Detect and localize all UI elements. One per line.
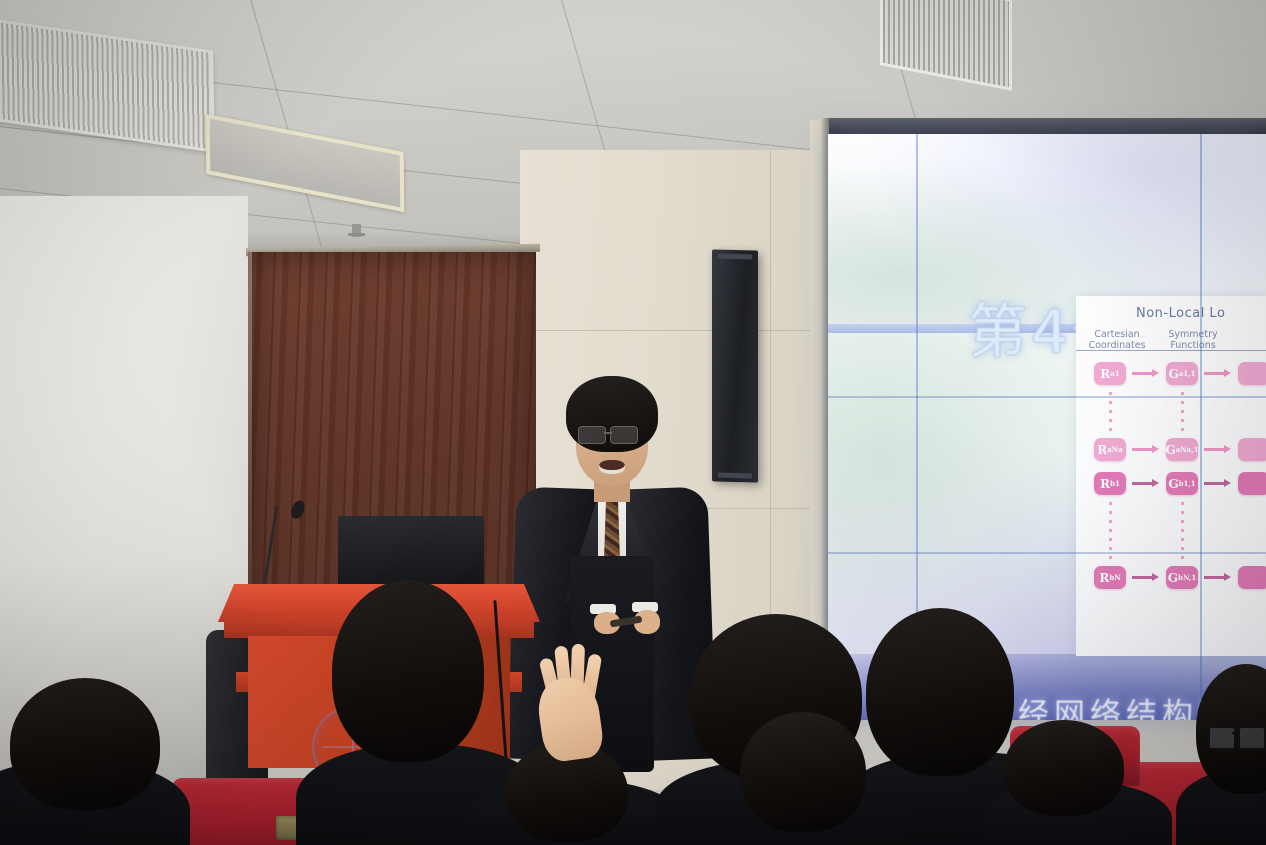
diagram-arrow — [1132, 448, 1154, 451]
diagram-column-header-cartesian: Cartesian Coordinates — [1080, 329, 1154, 351]
diagram-vertical-ellipsis — [1109, 392, 1112, 434]
node-symbol: G — [1168, 477, 1178, 491]
diagram-node-symmetry: Ga1,1 — [1166, 362, 1198, 385]
node-subscript: 1,1 — [1183, 369, 1195, 378]
diagram-vertical-ellipsis — [1181, 392, 1184, 434]
audience-eyeglasses — [1208, 726, 1266, 752]
diagram-node-coordinate: RaNa — [1094, 438, 1126, 461]
diagram-arrow — [1204, 482, 1226, 485]
node-symbol: R — [1099, 571, 1109, 585]
diagram-node-coordinate: RbN — [1094, 566, 1126, 589]
display-bezel-top — [820, 118, 1266, 135]
eyeglasses-lens-left — [578, 426, 606, 444]
audience-member-1 — [10, 678, 160, 810]
wall-mounted-column-speaker — [712, 249, 758, 482]
diagram-arrow — [1204, 372, 1226, 375]
node-subscript: 1,1 — [1183, 479, 1195, 488]
diagram-node-third-column — [1238, 438, 1266, 461]
diagram-arrow — [1132, 576, 1154, 579]
audience-member-8 — [740, 712, 866, 832]
diagram-node-symmetry: GaNa,1 — [1166, 438, 1198, 461]
diagram-node-symmetry: Gb1,1 — [1166, 472, 1198, 495]
diagram-node-symmetry: GbN,1 — [1166, 566, 1198, 589]
node-subscript: N — [1114, 573, 1120, 582]
eyeglasses-lens-right — [1238, 726, 1266, 750]
lecture-hall-photo: 第4代高 Non-Local Lo Cartesian Coordinates … — [0, 0, 1266, 845]
diagram-arrow — [1132, 482, 1154, 485]
node-subscript: N,1 — [1183, 573, 1196, 582]
diagram-column-header-symmetry: Symmetry Functions — [1156, 329, 1230, 351]
diagram-rule — [1076, 350, 1266, 351]
diagram-arrow — [1204, 448, 1226, 451]
led-panel-seam — [828, 552, 1266, 554]
node-symbol: G — [1169, 367, 1179, 381]
node-subscript: 1 — [1115, 369, 1120, 378]
diagram-heading: Non-Local Lo — [1136, 306, 1225, 321]
audience-member-5 — [866, 608, 1014, 776]
eyeglasses-bridge — [604, 432, 612, 434]
node-symbol: R — [1100, 367, 1110, 381]
diagram-arrow — [1132, 372, 1154, 375]
eyeglasses-bridge — [1232, 732, 1240, 734]
node-subscript: 1 — [1115, 479, 1120, 488]
node-symbol: R — [1097, 443, 1107, 457]
node-subscript: Na,1 — [1180, 445, 1198, 454]
mouth — [599, 460, 625, 474]
eyeglasses-lens-left — [1208, 726, 1236, 750]
slide-diagram: Non-Local Lo Cartesian Coordinates Symme… — [1076, 296, 1266, 656]
confidence-monitor[interactable] — [338, 516, 484, 588]
led-panel-seam — [828, 396, 1266, 398]
audience-member-2 — [332, 580, 484, 762]
diagram-node-third-column — [1238, 472, 1266, 495]
eyeglasses-lens-right — [610, 426, 638, 444]
node-symbol: G — [1165, 443, 1175, 457]
diagram-node-coordinate: Ra1 — [1094, 362, 1126, 385]
node-subscript: Na — [1112, 445, 1123, 454]
wall-panel-joint — [520, 330, 860, 331]
node-symbol: R — [1100, 477, 1110, 491]
column-header-line-1: Cartesian — [1080, 329, 1154, 340]
diagram-arrow — [1204, 576, 1226, 579]
diagram-node-third-column — [1238, 362, 1266, 385]
audience-member-6 — [1004, 720, 1124, 816]
presenter-speaker — [506, 376, 716, 796]
led-panel-seam — [1200, 134, 1202, 720]
node-symbol: G — [1168, 571, 1178, 585]
diagram-node-third-column — [1238, 566, 1266, 589]
raised-hand — [540, 640, 602, 760]
diagram-node-coordinate: Rb1 — [1094, 472, 1126, 495]
column-header-line-1: Symmetry — [1156, 329, 1230, 340]
